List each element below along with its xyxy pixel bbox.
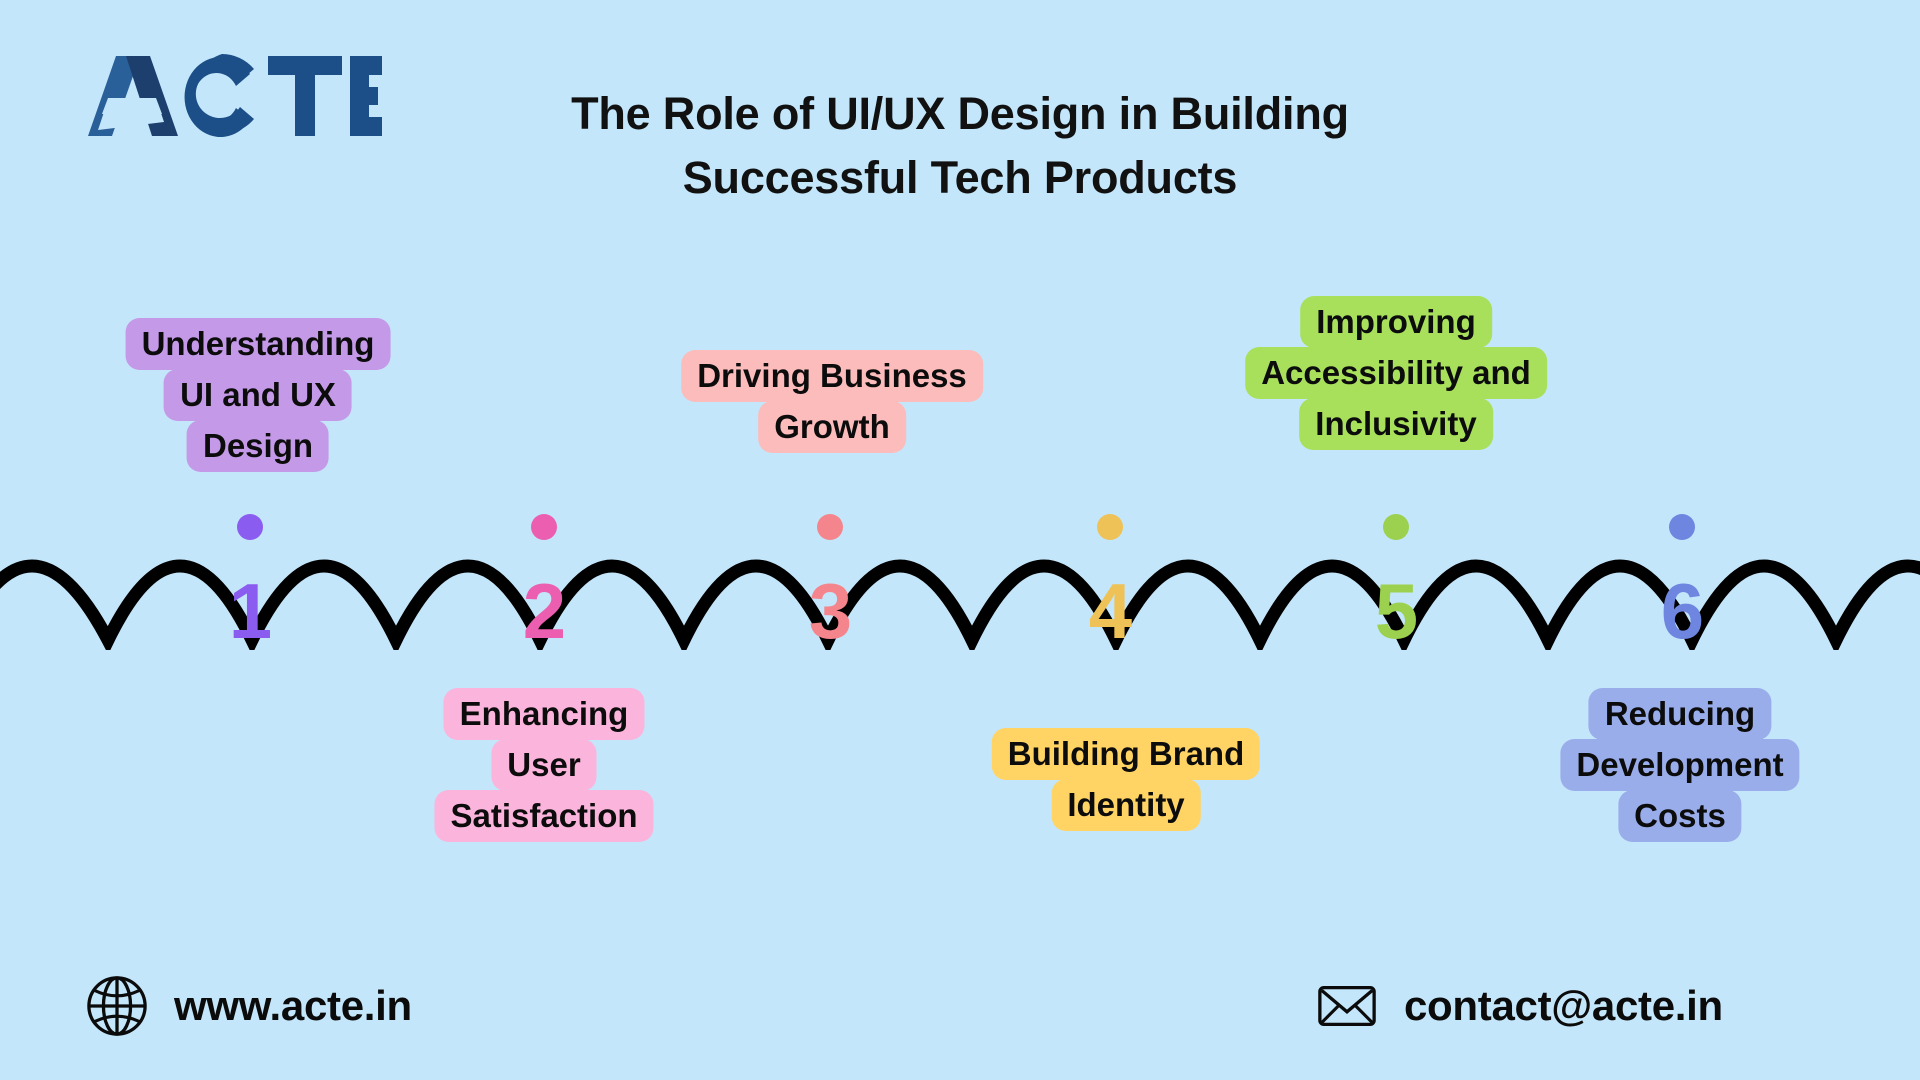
timeline-label-4-line-1: Building Brand — [992, 728, 1260, 780]
timeline-dot-3 — [817, 514, 843, 540]
timeline-number-6: 6 — [1661, 572, 1703, 650]
footer-email[interactable]: contact@acte.in — [1316, 975, 1723, 1037]
timeline-number-2: 2 — [523, 572, 565, 650]
timeline-label-3-line-2: Growth — [758, 401, 905, 453]
timeline-label-6-line-2: Development — [1560, 739, 1799, 791]
timeline-label-6-line-1: Reducing — [1589, 688, 1771, 740]
timeline-label-6[interactable]: Reducing Development Costs — [1560, 688, 1799, 842]
timeline-label-1-line-3: Design — [187, 420, 329, 472]
timeline-label-4[interactable]: Building Brand Identity — [992, 728, 1260, 831]
page-title-line-1: The Role of UI/UX Design in Building — [470, 82, 1450, 146]
timeline-number-1: 1 — [229, 572, 271, 650]
infographic-canvas: The Role of UI/UX Design in Building Suc… — [0, 0, 1920, 1080]
timeline-label-5[interactable]: Improving Accessibility and Inclusivity — [1245, 296, 1547, 450]
page-title: The Role of UI/UX Design in Building Suc… — [470, 82, 1450, 210]
timeline-label-3[interactable]: Driving Business Growth — [681, 350, 983, 453]
timeline-number-5: 5 — [1375, 572, 1417, 650]
footer-website-text: www.acte.in — [174, 982, 412, 1030]
timeline-label-1-line-1: Understanding — [126, 318, 391, 370]
page-title-line-2: Successful Tech Products — [470, 146, 1450, 210]
envelope-icon — [1316, 975, 1378, 1037]
timeline-label-5-line-3: Inclusivity — [1299, 398, 1492, 450]
timeline-dot-2 — [531, 514, 557, 540]
timeline-number-3: 3 — [809, 572, 851, 650]
timeline-dot-1 — [237, 514, 263, 540]
acte-logo — [82, 46, 382, 142]
footer-email-text: contact@acte.in — [1404, 982, 1723, 1030]
timeline-wave — [0, 500, 1920, 650]
timeline-label-3-line-1: Driving Business — [681, 350, 983, 402]
timeline-label-5-line-2: Accessibility and — [1245, 347, 1547, 399]
timeline-label-2[interactable]: Enhancing User Satisfaction — [434, 688, 653, 842]
timeline-dot-6 — [1669, 514, 1695, 540]
globe-icon — [86, 975, 148, 1037]
timeline-label-2-line-3: Satisfaction — [434, 790, 653, 842]
footer-website[interactable]: www.acte.in — [86, 975, 412, 1037]
timeline-number-4: 4 — [1089, 572, 1131, 650]
timeline-label-5-line-1: Improving — [1300, 296, 1492, 348]
timeline-label-2-line-1: Enhancing — [444, 688, 645, 740]
timeline-dot-4 — [1097, 514, 1123, 540]
timeline-label-6-line-3: Costs — [1618, 790, 1742, 842]
timeline-label-4-line-2: Identity — [1051, 779, 1200, 831]
timeline-label-1-line-2: UI and UX — [164, 369, 352, 421]
timeline-label-2-line-2: User — [491, 739, 596, 791]
timeline-label-1[interactable]: Understanding UI and UX Design — [126, 318, 391, 472]
timeline-dot-5 — [1383, 514, 1409, 540]
